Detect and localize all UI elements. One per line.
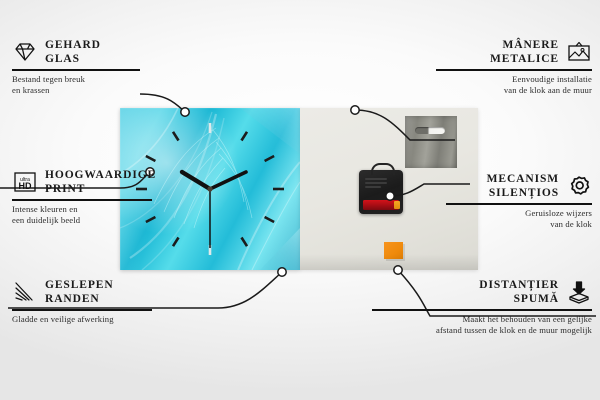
feature-title: MÂNERE METALICE (490, 38, 559, 66)
feature-divider (12, 69, 140, 71)
feature-title-line2: SPUMĂ (479, 292, 559, 306)
feature-title: DISTANȚIER SPUMĂ (479, 278, 559, 306)
feature-desc-line2: afstand tussen de klok en de muur mogeli… (372, 325, 592, 336)
hour-tick (265, 156, 275, 161)
infographic-canvas: GEHARD GLAS Bestand tegen breuk en krass… (0, 0, 600, 400)
feature-desc-line1: Bestand tegen breuk (12, 74, 140, 85)
feature-header: GESLEPEN RANDEN (12, 278, 152, 306)
ultra-hd-icon-large-label: HD (19, 181, 32, 191)
feature-title-line1: MÂNERE (490, 38, 559, 52)
feature-desc-line1: Eenvoudige installatie (436, 74, 592, 85)
feature-title-line1: DISTANȚIER (479, 278, 559, 292)
hour-tick (173, 132, 179, 141)
movement-detail (365, 178, 387, 180)
hour-tick (173, 238, 179, 247)
feature-header: DISTANȚIER SPUMĂ (372, 278, 592, 306)
feature-desc-line1: Maakt het behouden van een gelijke (372, 314, 592, 325)
clock-center-cap (207, 186, 212, 191)
feature-divider (446, 203, 592, 205)
feature-title: GEHARD GLAS (45, 38, 101, 66)
quartz-movement-box (359, 170, 403, 214)
feature-desc-line2: van de klok aan de muur (436, 85, 592, 96)
feature-divider (12, 309, 152, 311)
battery (363, 200, 399, 210)
feature-desc-line2: een duidelijk beeld (12, 215, 152, 226)
feature-header: GEHARD GLAS (12, 38, 140, 66)
feature-description: Geruisloze wijzers van de klok (446, 208, 592, 231)
movement-detail (365, 182, 387, 184)
feature-title-line1: GESLEPEN (45, 278, 114, 292)
hour-tick (242, 132, 248, 141)
feature-desc-line1: Geruisloze wijzers (446, 208, 592, 219)
feature-title-line1: GEHARD (45, 38, 101, 52)
feature-title-line2: METALICE (490, 52, 559, 66)
feature-desc-line2: van de klok (446, 219, 592, 230)
beveled-edge-icon (12, 280, 38, 304)
feature-divider (436, 69, 592, 71)
feature-desc-line2: en krassen (12, 85, 140, 96)
feature-geslepen-randen: GESLEPEN RANDEN Gladde en veilige afwerk… (12, 278, 152, 325)
feature-title: MECANISM SILENȚIOS (487, 172, 559, 200)
feature-title-line2: GLAS (45, 52, 101, 66)
feature-description: Maakt het behouden van een gelijke afsta… (372, 314, 592, 337)
feature-description: Gladde en veilige afwerking (12, 314, 152, 325)
feature-title-line2: SILENȚIOS (487, 186, 559, 200)
movement-detail (365, 186, 381, 188)
diamond-icon (12, 40, 38, 64)
hanger-loop (371, 163, 395, 175)
feature-gehard-glas: GEHARD GLAS Bestand tegen breuk en krass… (12, 38, 140, 96)
feature-title-line1: HOOGWAARDIGE (45, 168, 156, 182)
feature-hoogwaardige-print: ultra HD HOOGWAARDIGE PRINT Intense kleu… (12, 168, 152, 226)
ultra-hd-icon: ultra HD (12, 170, 38, 194)
gear-icon (566, 174, 592, 198)
spacer-press-icon (566, 280, 592, 304)
feature-description: Bestand tegen breuk en krassen (12, 74, 140, 97)
feature-title-line2: PRINT (45, 182, 156, 196)
feature-manere-metalice: MÂNERE METALICE Eenvoudige installatie v… (436, 38, 592, 96)
feature-title: GESLEPEN RANDEN (45, 278, 114, 306)
hour-hand (182, 172, 210, 189)
metal-hanger-plate (405, 116, 457, 168)
feature-distantier-spuma: DISTANȚIER SPUMĂ Maakt het behouden van … (372, 278, 592, 336)
feature-header: MÂNERE METALICE (436, 38, 592, 66)
feature-description: Eenvoudige installatie van de klok aan d… (436, 74, 592, 97)
feature-divider (372, 309, 592, 311)
hour-tick (265, 217, 275, 222)
feature-header: MECANISM SILENȚIOS (446, 172, 592, 200)
hour-tick (146, 156, 156, 161)
wall-shadow (300, 254, 478, 270)
hour-tick (242, 238, 248, 247)
hanger-keyhole-slot (415, 127, 445, 134)
feature-header: ultra HD HOOGWAARDIGE PRINT (12, 168, 152, 196)
feature-title-line1: MECANISM (487, 172, 559, 186)
feature-desc-line1: Gladde en veilige afwerking (12, 314, 152, 325)
feature-description: Intense kleuren en een duidelijk beeld (12, 204, 152, 227)
feature-mecanism-silentios: MECANISM SILENȚIOS Geruisloze wijzers va… (446, 172, 592, 230)
minute-hand (210, 172, 246, 189)
feature-title: HOOGWAARDIGE PRINT (45, 168, 156, 196)
feature-title-line2: RANDEN (45, 292, 114, 306)
feature-divider (12, 199, 152, 201)
feature-desc-line1: Intense kleuren en (12, 204, 152, 215)
picture-frame-icon (566, 40, 592, 64)
